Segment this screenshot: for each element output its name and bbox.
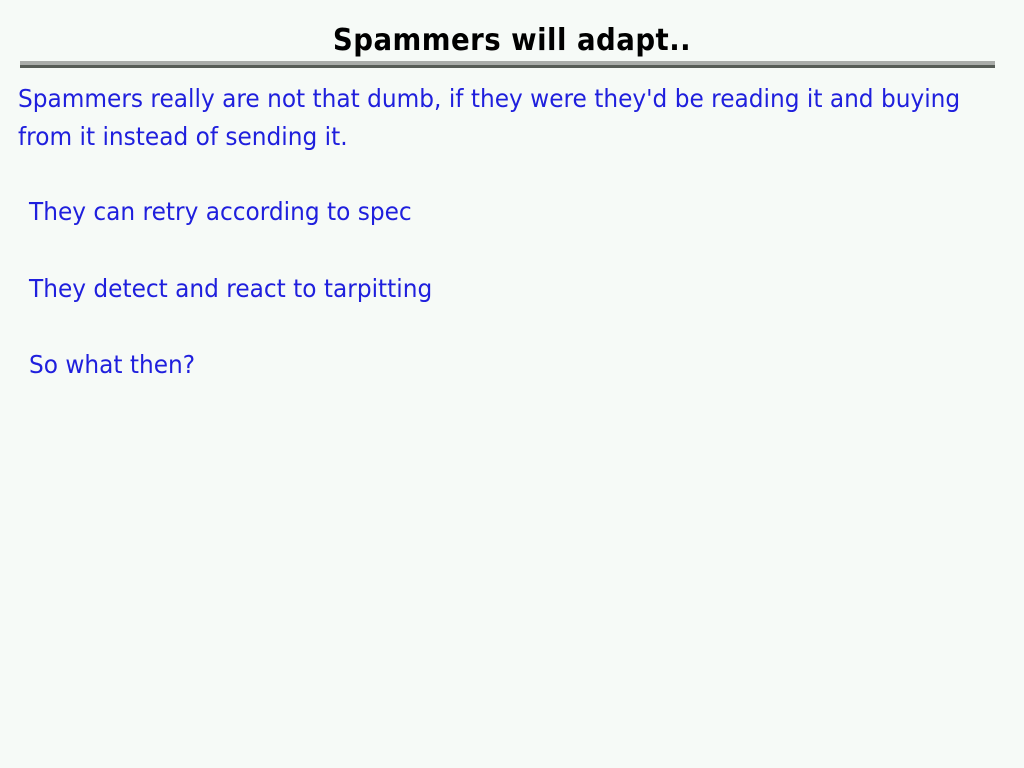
body-line-3: So what then? (29, 346, 940, 384)
body-line-2: They detect and react to tarpitting (29, 270, 940, 308)
divider-shadow-band (20, 65, 995, 68)
page-title: Spammers will adapt.. (41, 24, 983, 58)
title-divider (20, 61, 995, 68)
slide-canvas: Spammers will adapt.. Spammers really ar… (0, 0, 1024, 768)
body-line-1: They can retry according to spec (29, 193, 940, 231)
intro-paragraph: Spammers really are not that dumb, if th… (18, 80, 1004, 156)
